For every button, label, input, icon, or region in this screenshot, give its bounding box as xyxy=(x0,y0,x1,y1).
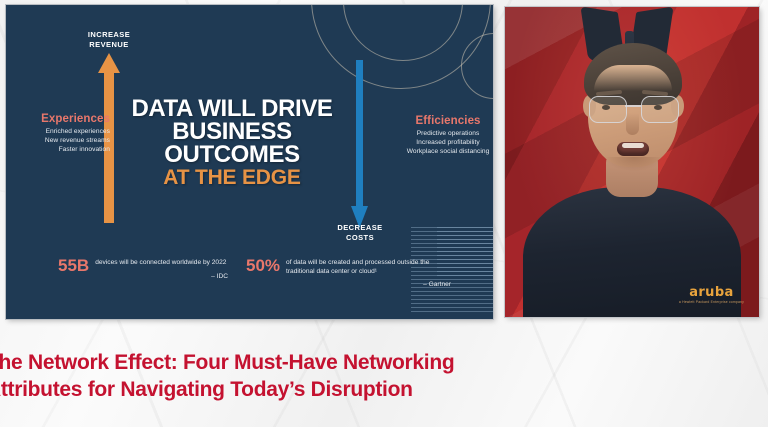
statistic-source: – IDC xyxy=(95,272,228,281)
efficiencies-line: Workplace social distancing xyxy=(392,147,493,156)
statistic-item: 50% of data will be created and processe… xyxy=(246,257,451,289)
efficiencies-title: Efficiencies xyxy=(392,115,493,127)
statistic-value: 50% xyxy=(246,257,280,275)
efficiencies-line: Increased profitability xyxy=(392,138,493,147)
headline-line: OUTCOMES xyxy=(124,143,340,166)
presenter-mouth xyxy=(617,142,649,156)
arrow-down-label: DECREASE COSTS xyxy=(320,223,400,242)
headline-line: BUSINESS xyxy=(124,120,340,143)
arrow-up-label: INCREASE REVENUE xyxy=(69,30,149,49)
statistic-source: – Gartner xyxy=(286,280,451,289)
eyeglass-lens xyxy=(641,96,679,123)
experiences-line: Enriched experiences xyxy=(6,127,110,136)
headline-accent: AT THE EDGE xyxy=(124,166,340,190)
statistic-item: 55B devices will be connected worldwide … xyxy=(58,257,228,281)
statistic-value: 55B xyxy=(58,257,89,275)
efficiencies-line: Predictive operations xyxy=(392,129,493,138)
webinar-title-line: Attributes for Navigating Today’s Disrup… xyxy=(0,376,686,403)
decrease-costs-arrow-icon xyxy=(351,60,368,228)
aruba-tagline: a Hewlett Packard Enterprise company xyxy=(679,301,744,304)
statistic-text: of data will be created and processed ou… xyxy=(286,259,451,276)
presenter-figure xyxy=(505,7,759,317)
statistic-text: devices will be connected worldwide by 2… xyxy=(95,259,228,268)
efficiencies-callout: Efficiencies Predictive operations Incre… xyxy=(392,115,493,156)
experiences-line: New revenue streams xyxy=(6,136,110,145)
presenter-chin-shadow xyxy=(605,157,663,171)
headline-line: DATA WILL DRIVE xyxy=(124,97,340,120)
webinar-stage: INCREASE REVENUE DECREASE COSTS Experien… xyxy=(0,0,768,427)
aruba-wordmark: aruba xyxy=(679,286,744,299)
eyeglass-lens xyxy=(589,96,627,123)
presentation-slide: INCREASE REVENUE DECREASE COSTS Experien… xyxy=(6,5,493,319)
aruba-logo: aruba a Hewlett Packard Enterprise compa… xyxy=(679,286,744,304)
webinar-title: The Network Effect: Four Must-Have Netwo… xyxy=(0,349,686,403)
webinar-title-band: The Network Effect: Four Must-Have Netwo… xyxy=(0,327,768,427)
webinar-title-line: The Network Effect: Four Must-Have Netwo… xyxy=(0,349,686,376)
eyeglass-bridge xyxy=(625,105,641,107)
presenter-nose xyxy=(626,113,639,135)
experiences-title: Experiences xyxy=(6,113,110,125)
experiences-line: Faster innovation xyxy=(6,145,110,154)
presenter-video-panel[interactable]: aruba a Hewlett Packard Enterprise compa… xyxy=(505,7,759,317)
slide-headline: DATA WILL DRIVE BUSINESS OUTCOMES AT THE… xyxy=(124,97,340,190)
experiences-callout: Experiences Enriched experiences New rev… xyxy=(6,113,110,154)
